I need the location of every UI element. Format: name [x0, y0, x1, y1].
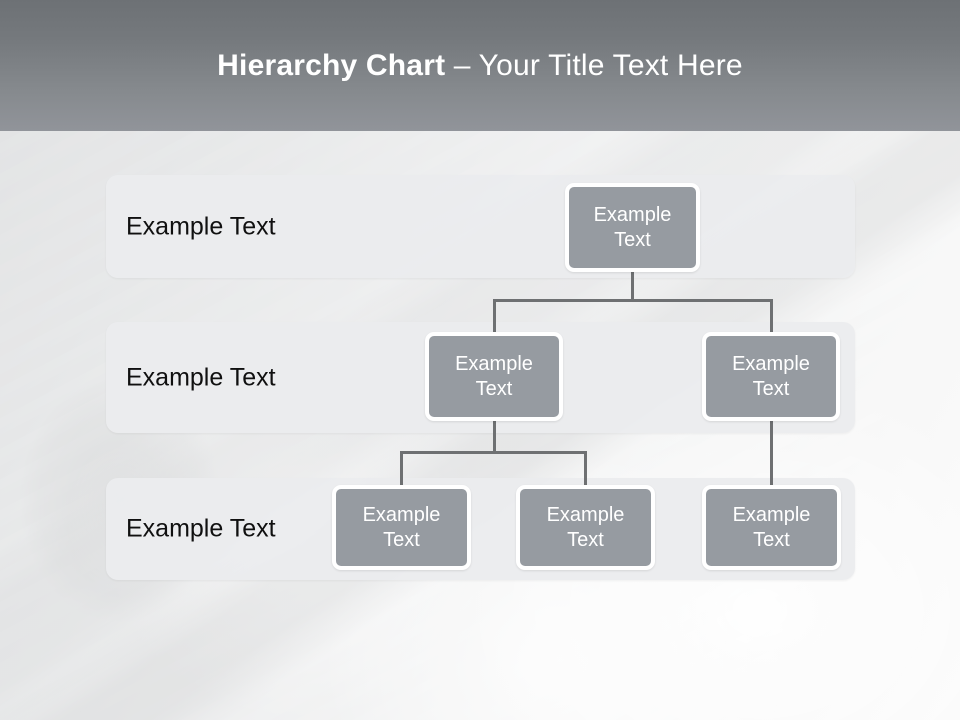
node-text: ExampleText	[443, 352, 545, 402]
node-text: ExampleText	[721, 503, 823, 553]
hierarchy-node-2-1[interactable]: ExampleText	[425, 332, 563, 421]
hierarchy-row-1: Example Text	[106, 175, 855, 278]
row-label-1: Example Text	[126, 212, 276, 241]
slide-canvas: Hierarchy Chart – Your Title Text Here E…	[0, 0, 960, 720]
node-text-line1: Example	[727, 503, 817, 528]
connector-line	[493, 299, 772, 302]
page-title: Hierarchy Chart – Your Title Text Here	[0, 0, 960, 131]
node-text-line1: Example	[357, 503, 447, 528]
node-text-line1: Example	[726, 352, 816, 377]
page-title-bold: Hierarchy Chart	[217, 49, 454, 83]
connector-line	[493, 299, 496, 333]
node-text-line1: Example	[541, 503, 631, 528]
node-text: ExampleText	[351, 503, 453, 553]
hierarchy-node-1-1[interactable]: ExampleText	[565, 183, 700, 272]
connector-line	[770, 299, 773, 333]
page-title-rest: – Your Title Text Here	[454, 49, 743, 83]
hierarchy-node-2-2[interactable]: ExampleText	[702, 332, 840, 421]
node-text-line1: Example	[588, 203, 678, 228]
node-text-line2: Text	[357, 528, 447, 553]
node-text: ExampleText	[720, 352, 822, 402]
hierarchy-node-3-1[interactable]: ExampleText	[332, 485, 471, 570]
hierarchy-node-3-2[interactable]: ExampleText	[516, 485, 655, 570]
connector-line	[400, 451, 403, 486]
connector-line	[400, 451, 586, 454]
node-text-line2: Text	[449, 377, 539, 402]
connector-line	[631, 272, 634, 301]
hierarchy-node-3-3[interactable]: ExampleText	[702, 485, 841, 570]
row-label-3: Example Text	[126, 515, 276, 544]
node-text-line2: Text	[726, 377, 816, 402]
node-text-line2: Text	[727, 528, 817, 553]
node-text: ExampleText	[535, 503, 637, 553]
node-text-line2: Text	[588, 228, 678, 253]
connector-line	[584, 451, 587, 486]
node-text: ExampleText	[582, 203, 684, 253]
node-text-line2: Text	[541, 528, 631, 553]
node-text-line1: Example	[449, 352, 539, 377]
row-label-2: Example Text	[126, 363, 276, 392]
connector-line	[493, 421, 496, 452]
connector-line	[770, 421, 773, 486]
